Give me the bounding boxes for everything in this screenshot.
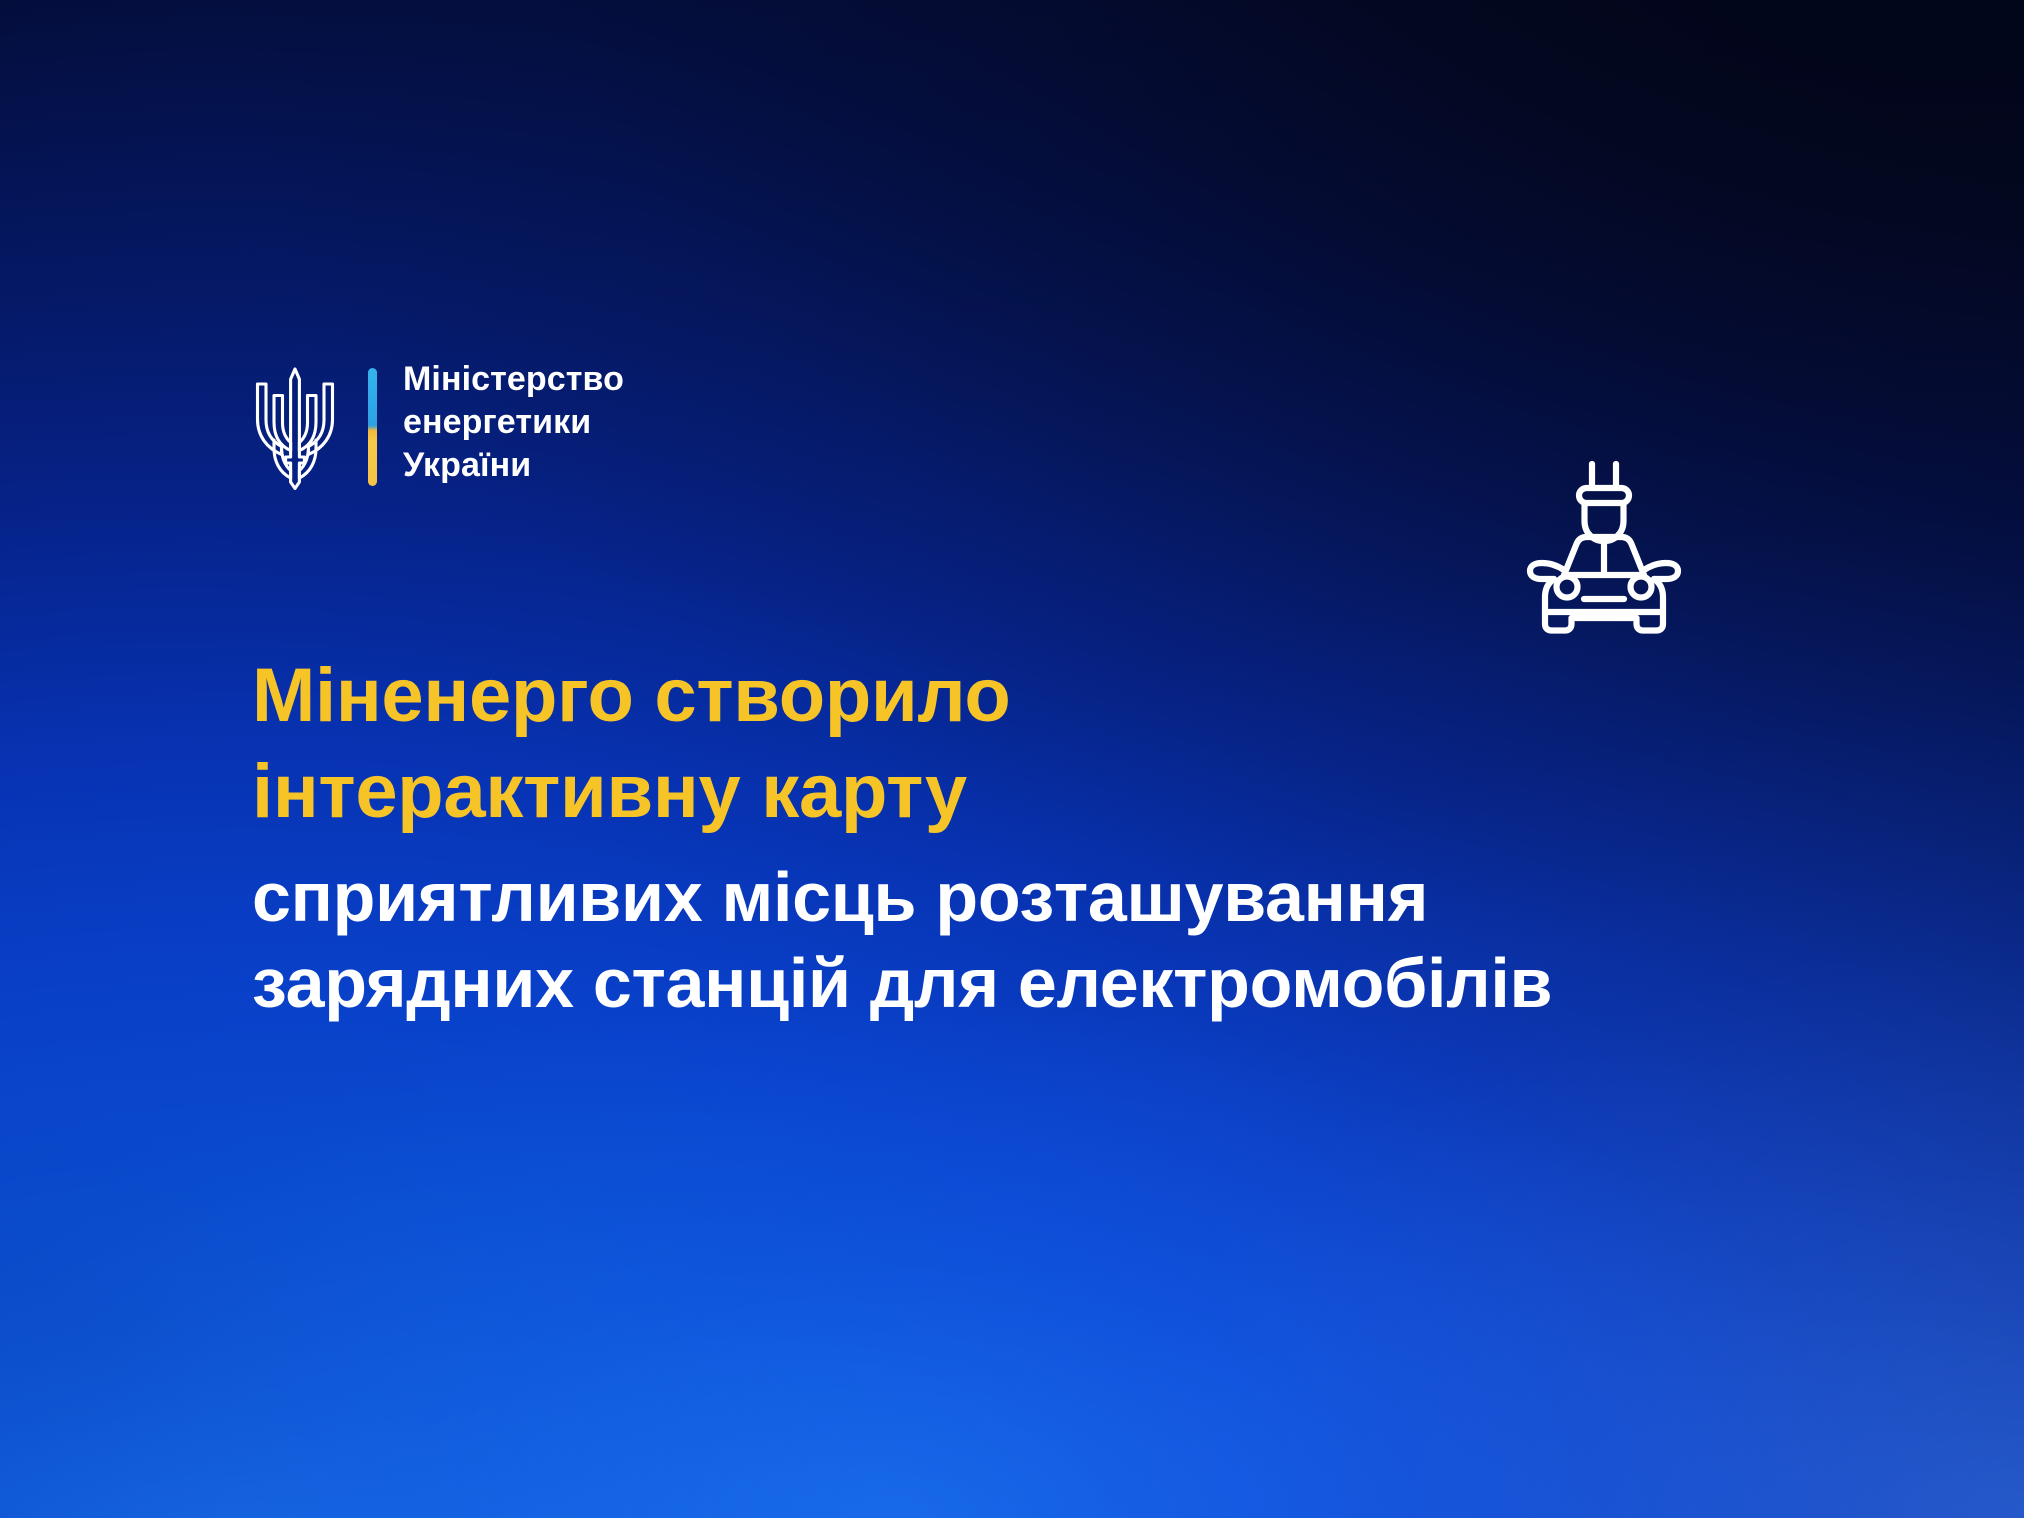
headline-plain-line-2: зарядних станцій для електромобілів [252, 940, 1812, 1027]
headline-accent-line-1: Мiненерго створило [252, 648, 1812, 744]
ministry-name-line-1: Міністерство [403, 358, 624, 401]
ministry-name: Міністерство енергетики України [403, 358, 624, 486]
headline-accent-line-2: iнтерактивну карту [252, 744, 1812, 840]
headline-plain-line-1: сприятливих місць розташування [252, 854, 1812, 941]
ministry-name-line-2: енергетики [403, 401, 624, 444]
electric-vehicle-charging-icon [1518, 452, 1690, 642]
ukraine-trident-icon [252, 362, 338, 490]
ministry-logo: Міністерство енергетики України [252, 358, 624, 490]
ministry-name-line-3: України [403, 444, 624, 487]
headline-subtitle: сприятливих місць розташування зарядних … [252, 854, 1812, 1028]
headline-block: Мiненерго створило iнтерактивну карту сп… [252, 648, 1812, 1027]
poster-canvas: Міністерство енергетики України [0, 0, 2024, 1518]
logo-divider-bar [368, 368, 377, 486]
